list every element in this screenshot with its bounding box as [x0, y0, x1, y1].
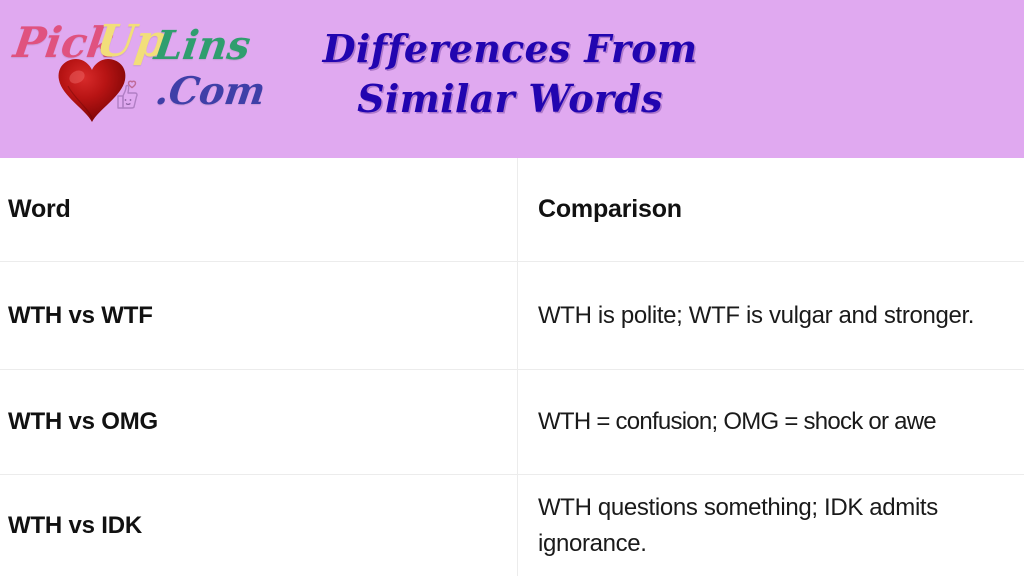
table-cell-word: WTH vs IDK — [0, 475, 518, 576]
table-row: WTH vs WTF WTH is polite; WTF is vulgar … — [0, 262, 1024, 370]
table-header-cell-word: Word — [0, 158, 518, 261]
row-word-0: WTH vs WTF — [8, 302, 153, 330]
page-title-line-1: Differences From — [280, 24, 740, 74]
table-cell-comparison: WTH = confusion; OMG = shock or awe — [518, 370, 1024, 474]
logo-word-com: .Com — [153, 72, 267, 110]
row-word-1: WTH vs OMG — [8, 408, 158, 436]
table-header-row: Word Comparison — [0, 158, 1024, 262]
thumbs-up-heart-icon — [113, 80, 147, 114]
page-title-line-2: Similar Words — [280, 74, 740, 124]
logo-word-lins: Lins — [152, 26, 253, 66]
column-header-word: Word — [8, 195, 71, 224]
comparison-table: Word Comparison WTH vs WTF WTH is polite… — [0, 158, 1024, 576]
table-cell-comparison: WTH questions something; IDK admits igno… — [518, 475, 1024, 576]
site-logo[interactable]: Pick Up Lins .Com — [0, 0, 270, 158]
table-cell-word: WTH vs WTF — [0, 262, 518, 369]
page-root: Pick Up Lins .Com — [0, 0, 1024, 576]
table-cell-word: WTH vs OMG — [0, 370, 518, 474]
column-header-comparison: Comparison — [538, 195, 682, 224]
table-row: WTH vs OMG WTH = confusion; OMG = shock … — [0, 370, 1024, 475]
table-row: WTH vs IDK WTH questions something; IDK … — [0, 475, 1024, 576]
header-banner: Pick Up Lins .Com — [0, 0, 1024, 158]
table-cell-comparison: WTH is polite; WTF is vulgar and stronge… — [518, 262, 1024, 369]
row-comparison-2: WTH questions something; IDK admits igno… — [538, 490, 1022, 561]
row-comparison-0: WTH is polite; WTF is vulgar and stronge… — [538, 298, 974, 334]
table-header-cell-comparison: Comparison — [518, 158, 1024, 261]
page-title: Differences From Similar Words — [280, 24, 740, 124]
row-comparison-1: WTH = confusion; OMG = shock or awe — [538, 404, 936, 440]
row-word-2: WTH vs IDK — [8, 512, 142, 540]
